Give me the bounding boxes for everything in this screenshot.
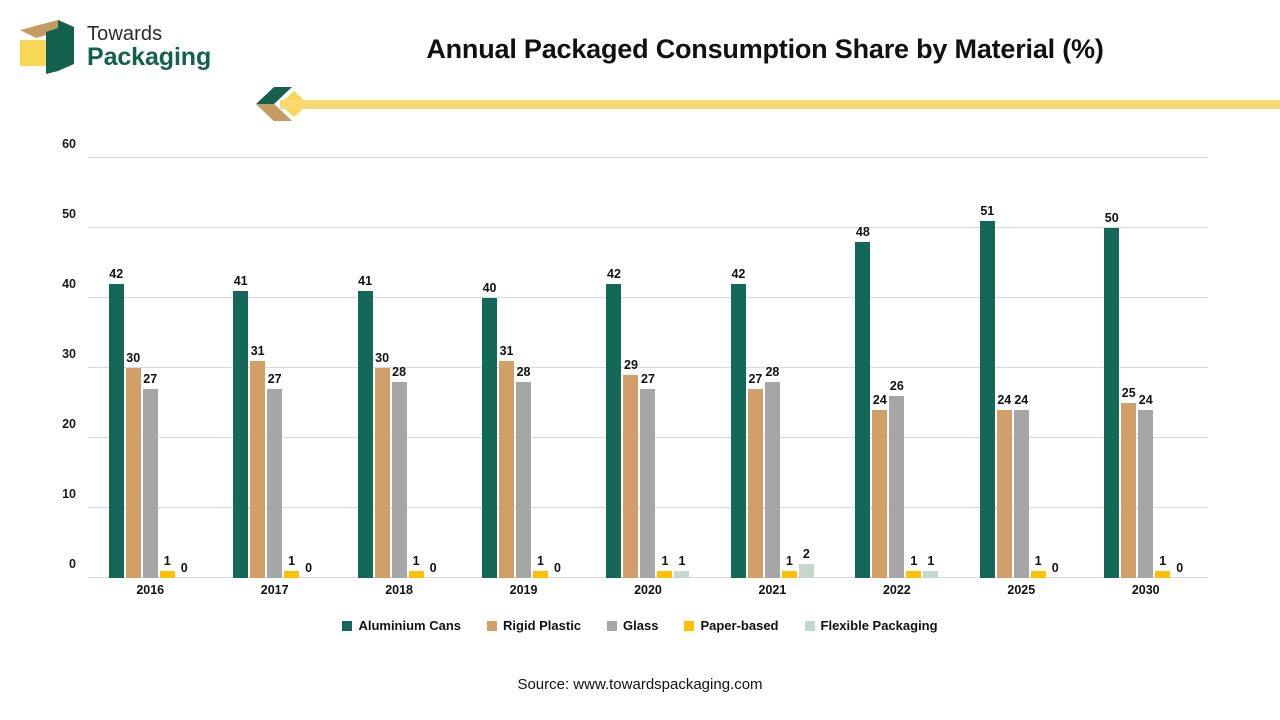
source-note: Source: www.towardspackaging.com: [0, 676, 1280, 693]
legend-label: Rigid Plastic: [503, 618, 581, 633]
bar-value-label: 27: [268, 372, 282, 386]
bar-value-label: 24: [873, 393, 887, 407]
bar-fill: [392, 382, 407, 578]
bar-value-label: 24: [1014, 393, 1028, 407]
chart-title: Annual Packaged Consumption Share by Mat…: [260, 34, 1270, 65]
x-axis-tick-label: 2016: [88, 583, 212, 597]
bar[interactable]: 0: [1172, 158, 1187, 578]
bar[interactable]: 51: [980, 158, 995, 578]
bar-value-label: 41: [358, 274, 372, 288]
bar[interactable]: 42: [109, 158, 124, 578]
brand-wordmark: Towards Packaging: [87, 24, 211, 71]
bar[interactable]: 28: [516, 158, 531, 578]
x-axis-tick-label: 2022: [835, 583, 959, 597]
legend-item[interactable]: Glass: [607, 618, 658, 633]
bar-fill: [731, 284, 746, 578]
bar-value-label: 41: [234, 274, 248, 288]
bar-fill: [499, 361, 514, 578]
bar-group-bars: 41312710: [212, 158, 336, 578]
bar-group: 422728122021: [710, 158, 834, 578]
bar-value-label: 24: [1139, 393, 1153, 407]
bar-fill: [782, 571, 797, 578]
brand-logo: Towards Packaging: [18, 18, 211, 76]
bar-fill: [533, 571, 548, 578]
cube-logo-icon: [18, 18, 76, 76]
bar-value-label: 1: [786, 554, 793, 568]
bar-value-label: 30: [375, 351, 389, 365]
x-axis-tick-label: 2021: [710, 583, 834, 597]
bar-group: 502524102030: [1084, 158, 1208, 578]
bar[interactable]: 25: [1121, 158, 1136, 578]
bar-value-label: 1: [661, 554, 668, 568]
bar[interactable]: 41: [233, 158, 248, 578]
legend-swatch: [487, 621, 497, 631]
bar[interactable]: 0: [550, 158, 565, 578]
bar-value-label: 0: [181, 561, 188, 575]
bar[interactable]: 27: [267, 158, 282, 578]
bar-group-bars: 42292711: [586, 158, 710, 578]
bar-value-label: 2: [803, 547, 810, 561]
legend-swatch: [607, 621, 617, 631]
y-axis-tick-label: 60: [36, 137, 76, 151]
bar-value-label: 1: [537, 554, 544, 568]
bar[interactable]: 24: [872, 158, 887, 578]
bar-value-label: 30: [126, 351, 140, 365]
bar-value-label: 28: [517, 365, 531, 379]
bar-fill: [657, 571, 672, 578]
bar[interactable]: 0: [1048, 158, 1063, 578]
bar-fill: [250, 361, 265, 578]
bar-fill: [1138, 410, 1153, 578]
bar-group: 512424102025: [959, 158, 1083, 578]
y-axis-tick-label: 20: [36, 417, 76, 431]
bar-group: 423027102016: [88, 158, 212, 578]
bar-value-label: 1: [927, 554, 934, 568]
bar-fill: [906, 571, 921, 578]
y-axis-tick-label: 0: [36, 557, 76, 571]
bar-fill: [1031, 571, 1046, 578]
bar-value-label: 29: [624, 358, 638, 372]
bar-group: 403128102019: [461, 158, 585, 578]
bar-groups: 4230271020164131271020174130281020184031…: [88, 158, 1208, 578]
bar[interactable]: 0: [301, 158, 316, 578]
bar-value-label: 27: [748, 372, 762, 386]
bar-value-label: 27: [641, 372, 655, 386]
bar-value-label: 24: [997, 393, 1011, 407]
bar[interactable]: 1: [1155, 158, 1170, 578]
bar-fill: [109, 284, 124, 578]
bar[interactable]: 1: [409, 158, 424, 578]
bar[interactable]: 42: [606, 158, 621, 578]
bar-value-label: 25: [1122, 386, 1136, 400]
bar-group-bars: 42272812: [710, 158, 834, 578]
bar-fill: [640, 389, 655, 578]
bar[interactable]: 27: [640, 158, 655, 578]
bar[interactable]: 27: [748, 158, 763, 578]
bar-group: 413127102017: [212, 158, 336, 578]
legend-item[interactable]: Rigid Plastic: [487, 618, 581, 633]
x-axis-tick-label: 2019: [461, 583, 585, 597]
bar[interactable]: 27: [143, 158, 158, 578]
bar-group: 422927112020: [586, 158, 710, 578]
bar[interactable]: 1: [923, 158, 938, 578]
bar[interactable]: 31: [499, 158, 514, 578]
bar-group-bars: 40312810: [461, 158, 585, 578]
bar-value-label: 31: [251, 344, 265, 358]
bar-fill: [409, 571, 424, 578]
bar[interactable]: 24: [1014, 158, 1029, 578]
bar-group-bars: 48242611: [835, 158, 959, 578]
bar-fill: [997, 410, 1012, 578]
bar-fill: [375, 368, 390, 578]
bar-value-label: 28: [765, 365, 779, 379]
bar-fill: [482, 298, 497, 578]
plot-area: 0102030405060 42302710201641312710201741…: [88, 158, 1208, 578]
bar-fill: [143, 389, 158, 578]
y-axis-tick-label: 50: [36, 207, 76, 221]
bar-value-label: 1: [413, 554, 420, 568]
legend-swatch: [342, 621, 352, 631]
bar[interactable]: 1: [160, 158, 175, 578]
bar[interactable]: 50: [1104, 158, 1119, 578]
bar[interactable]: 24: [997, 158, 1012, 578]
bar-value-label: 0: [1176, 561, 1183, 575]
bar-group: 413028102018: [337, 158, 461, 578]
x-axis-tick-label: 2020: [586, 583, 710, 597]
legend-label: Glass: [623, 618, 658, 633]
bar-value-label: 40: [483, 281, 497, 295]
bar-value-label: 0: [430, 561, 437, 575]
x-axis-tick-label: 2025: [959, 583, 1083, 597]
chart-legend: Aluminium CansRigid PlasticGlassPaper-ba…: [0, 618, 1280, 633]
x-axis-tick-label: 2030: [1084, 583, 1208, 597]
bar-value-label: 48: [856, 225, 870, 239]
bar[interactable]: 1: [533, 158, 548, 578]
bar[interactable]: 48: [855, 158, 870, 578]
bar-value-label: 27: [143, 372, 157, 386]
bar-fill: [516, 382, 531, 578]
bar-fill: [623, 375, 638, 578]
bar-fill: [1014, 410, 1029, 578]
bar-value-label: 28: [392, 365, 406, 379]
bar[interactable]: 26: [889, 158, 904, 578]
bar-fill: [284, 571, 299, 578]
bar-value-label: 1: [910, 554, 917, 568]
legend-item[interactable]: Flexible Packaging: [805, 618, 938, 633]
x-axis-tick-label: 2017: [212, 583, 336, 597]
bar[interactable]: 1: [284, 158, 299, 578]
bar[interactable]: 30: [126, 158, 141, 578]
bar[interactable]: 40: [482, 158, 497, 578]
bar-value-label: 1: [1035, 554, 1042, 568]
bar[interactable]: 42: [731, 158, 746, 578]
bar-fill: [799, 564, 814, 578]
brand-line-2: Packaging: [87, 45, 211, 71]
bar-group: 482426112022: [835, 158, 959, 578]
bar-fill: [748, 389, 763, 578]
bar-fill: [358, 291, 373, 578]
bar[interactable]: 1: [782, 158, 797, 578]
bar-group-bars: 42302710: [88, 158, 212, 578]
legend-item[interactable]: Paper-based: [684, 618, 778, 633]
bar-fill: [1104, 228, 1119, 578]
bar-value-label: 50: [1105, 211, 1119, 225]
bar[interactable]: 41: [358, 158, 373, 578]
bar-value-label: 42: [731, 267, 745, 281]
bar[interactable]: 29: [623, 158, 638, 578]
bar[interactable]: 24: [1138, 158, 1153, 578]
bar-fill: [980, 221, 995, 578]
y-axis-tick-label: 30: [36, 347, 76, 361]
bar-value-label: 31: [500, 344, 514, 358]
bar-value-label: 1: [288, 554, 295, 568]
bar-fill: [1121, 403, 1136, 578]
bar-fill: [923, 571, 938, 578]
legend-swatch: [805, 621, 815, 631]
bar-fill: [765, 382, 780, 578]
bar[interactable]: 31: [250, 158, 265, 578]
bar-value-label: 0: [305, 561, 312, 575]
bar-fill: [233, 291, 248, 578]
bar-fill: [126, 368, 141, 578]
bar-fill: [1155, 571, 1170, 578]
bar-value-label: 1: [1159, 554, 1166, 568]
bar-value-label: 1: [164, 554, 171, 568]
legend-label: Aluminium Cans: [358, 618, 461, 633]
bar[interactable]: 0: [177, 158, 192, 578]
bar[interactable]: 0: [426, 158, 441, 578]
bar-value-label: 0: [1052, 561, 1059, 575]
legend-label: Paper-based: [700, 618, 778, 633]
accent-line: [280, 100, 1280, 109]
bar[interactable]: 1: [674, 158, 689, 578]
bar-value-label: 0: [554, 561, 561, 575]
chart-page: Towards Packaging Annual Packaged Consum…: [0, 0, 1280, 720]
header-accent: [246, 86, 1280, 122]
bar-value-label: 1: [678, 554, 685, 568]
bar-fill: [855, 242, 870, 578]
bar[interactable]: 2: [799, 158, 814, 578]
bar[interactable]: 1: [1031, 158, 1046, 578]
bar-group-bars: 50252410: [1084, 158, 1208, 578]
bar[interactable]: 1: [657, 158, 672, 578]
y-axis-tick-label: 40: [36, 277, 76, 291]
bar-group-bars: 41302810: [337, 158, 461, 578]
y-axis-tick-label: 10: [36, 487, 76, 501]
bar-value-label: 26: [890, 379, 904, 393]
bar-value-label: 51: [980, 204, 994, 218]
bar[interactable]: 30: [375, 158, 390, 578]
bar-fill: [674, 571, 689, 578]
bar-fill: [160, 571, 175, 578]
bar-fill: [267, 389, 282, 578]
legend-swatch: [684, 621, 694, 631]
x-axis-tick-label: 2018: [337, 583, 461, 597]
bar-group-bars: 51242410: [959, 158, 1083, 578]
bar[interactable]: 1: [906, 158, 921, 578]
bar[interactable]: 28: [765, 158, 780, 578]
bar-fill: [606, 284, 621, 578]
brand-line-1: Towards: [87, 24, 211, 44]
legend-label: Flexible Packaging: [821, 618, 938, 633]
bar[interactable]: 28: [392, 158, 407, 578]
bar-value-label: 42: [607, 267, 621, 281]
bar-fill: [872, 410, 887, 578]
bar-value-label: 42: [109, 267, 123, 281]
legend-item[interactable]: Aluminium Cans: [342, 618, 461, 633]
bar-fill: [889, 396, 904, 578]
